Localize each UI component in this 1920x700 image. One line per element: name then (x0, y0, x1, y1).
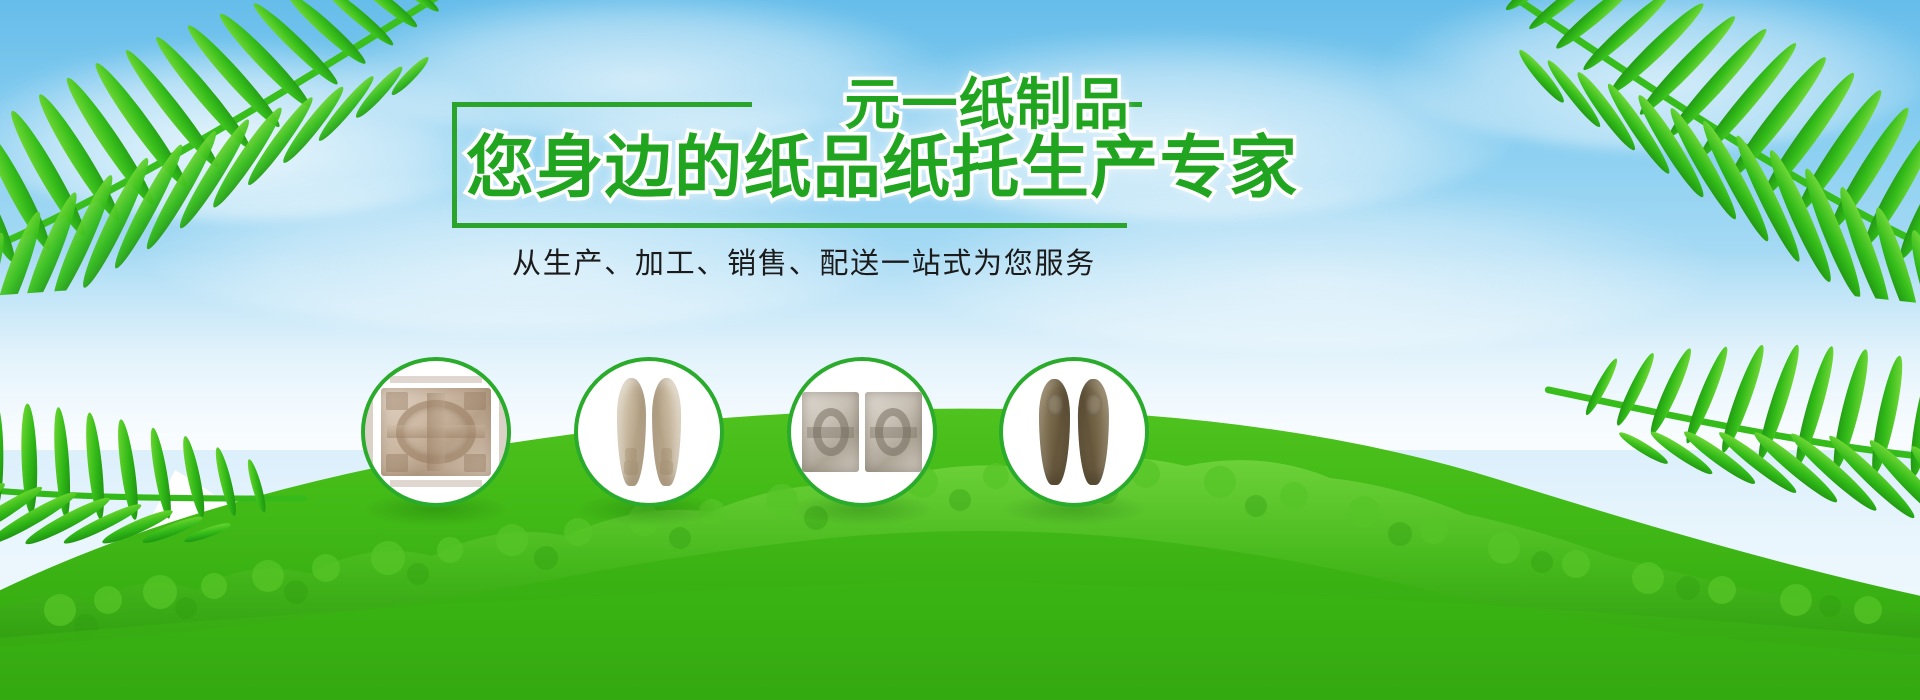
product-circle-square-pulp-tray[interactable] (361, 357, 511, 507)
double-tray-art (802, 392, 921, 472)
product-circle-grey-double-pulp-tray[interactable] (787, 357, 937, 507)
insole-pair-art (605, 377, 693, 488)
square-pulp-tray-image (381, 388, 492, 476)
tray-half-left (802, 392, 859, 472)
dark-insole-left (1039, 379, 1070, 485)
tray-half-right (865, 392, 922, 472)
pulp-tray-art (381, 388, 492, 476)
dark-insole-pair-art (1027, 378, 1121, 486)
promotional-banner: 元一纸制品 您身边的纸品纸托生产专家 从生产、加工、销售、配送一站式为您服务 (0, 0, 1920, 700)
grey-double-pulp-tray-image (802, 392, 921, 472)
insole-left (617, 378, 646, 487)
product-circle-group (0, 0, 1920, 700)
light-insole-pair-image (605, 377, 693, 488)
insole-right (652, 378, 681, 487)
product-circle-light-insole-pair[interactable] (574, 357, 724, 507)
dark-insole-pair-image (1027, 378, 1121, 486)
product-circle-dark-insole-pair[interactable] (999, 357, 1149, 507)
dark-insole-right (1078, 379, 1109, 485)
